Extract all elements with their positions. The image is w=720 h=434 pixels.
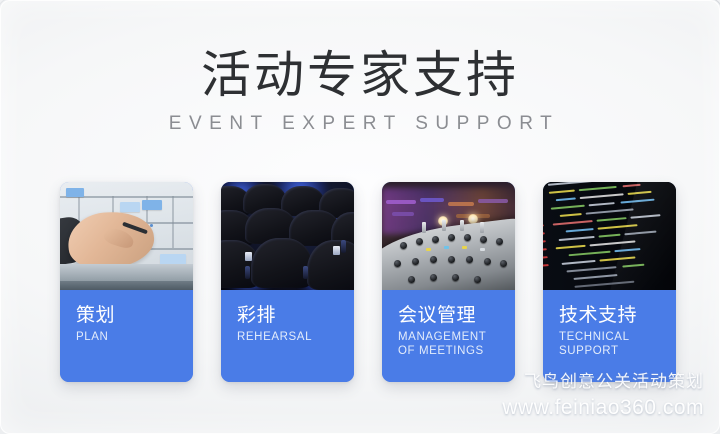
service-card-title-en: PLAN	[76, 330, 193, 344]
service-card-title-en: TECHNICAL SUPPORT	[559, 330, 676, 358]
service-card-meeting-management-body: 会议管理 MANAGEMENT OF MEETINGS	[382, 290, 515, 382]
service-card-title-cn: 技术支持	[559, 304, 676, 327]
code-screen-photo	[543, 182, 676, 290]
slide-canvas: 活动专家支持 EVENT EXPERT SUPPORT	[0, 0, 720, 434]
heading-block: 活动专家支持 EVENT EXPERT SUPPORT	[0, 46, 720, 135]
service-card-rehearsal-body: 彩排 REHEARSAL	[221, 290, 354, 382]
service-card-title-cn: 彩排	[237, 304, 354, 327]
service-card-title-cn: 会议管理	[398, 304, 515, 327]
service-card-meeting-management[interactable]: 会议管理 MANAGEMENT OF MEETINGS	[382, 182, 515, 382]
service-card-title-en: REHEARSAL	[237, 330, 354, 344]
service-card-plan-body: 策划 PLAN	[60, 290, 193, 382]
frame-corner-top-right	[696, 0, 720, 24]
frame-corner-top-left	[0, 0, 24, 24]
page-title: 活动专家支持	[0, 46, 720, 104]
service-card-technical-support[interactable]: 技术支持 TECHNICAL SUPPORT	[543, 182, 676, 382]
service-card-rehearsal[interactable]: 彩排 REHEARSAL	[221, 182, 354, 382]
service-card-title-en: MANAGEMENT OF MEETINGS	[398, 330, 515, 358]
service-card-technical-support-body: 技术支持 TECHNICAL SUPPORT	[543, 290, 676, 382]
watermark-url: www.feiniao360.com	[502, 395, 704, 420]
service-card-plan[interactable]: 策划 PLAN	[60, 182, 193, 382]
whiteboard-planning-photo	[60, 182, 193, 290]
service-card-list: 策划 PLAN	[60, 182, 676, 382]
mixing-console-photo	[382, 182, 515, 290]
auditorium-seats-photo	[221, 182, 354, 290]
page-subtitle: EVENT EXPERT SUPPORT	[0, 113, 720, 135]
service-card-title-cn: 策划	[76, 304, 193, 327]
